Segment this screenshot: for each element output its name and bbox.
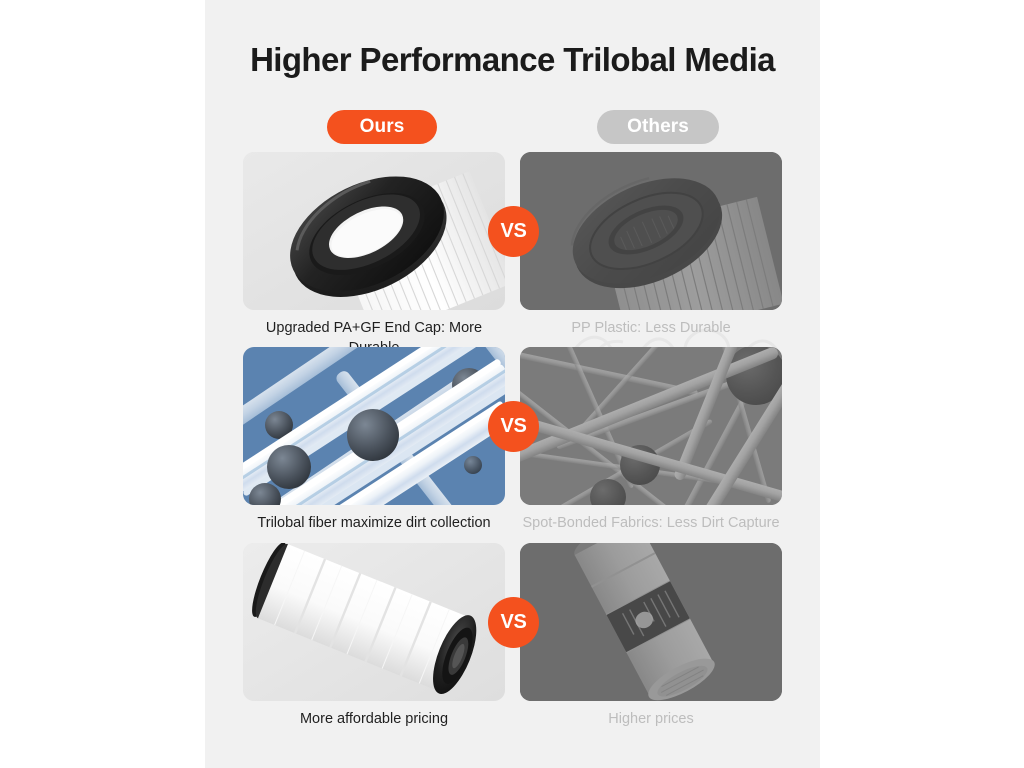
others-gray-veil	[520, 543, 782, 701]
ours-image-card-end-cap	[243, 152, 505, 310]
trilobal-fiber-microscope-render	[243, 347, 505, 505]
comparison-row-end-cap: VS	[205, 152, 820, 348]
ours-caption-fiber: Trilobal fiber maximize dirt collection	[243, 513, 505, 533]
others-caption-fiber: Spot-Bonded Fabrics: Less Dirt Capture	[520, 513, 782, 533]
others-image-card-end-cap	[520, 152, 782, 310]
comparison-row-fiber: VS	[205, 347, 820, 543]
infographic-page: Higher Performance Trilobal Media Ours O…	[0, 0, 1024, 768]
content-panel: Higher Performance Trilobal Media Ours O…	[205, 0, 820, 768]
vs-badge-price: VS	[488, 597, 539, 648]
white-cartridge-filter-photo	[243, 543, 505, 701]
comparison-row-price: VS	[205, 543, 820, 739]
others-caption-end-cap: PP Plastic: Less Durable	[520, 318, 782, 338]
black-end-cap-filter-photo	[243, 152, 505, 310]
column-header-row: Ours Others	[205, 110, 820, 146]
spot-bonded-round-fiber-render	[520, 347, 782, 505]
vs-badge-fiber: VS	[488, 401, 539, 452]
others-gray-veil	[520, 152, 782, 310]
others-image-card-fiber	[520, 347, 782, 505]
column-badge-ours: Ours	[327, 110, 437, 144]
page-title: Higher Performance Trilobal Media	[205, 40, 820, 80]
others-image-card-price	[520, 543, 782, 701]
ours-caption-price: More affordable pricing	[243, 709, 505, 729]
pp-plastic-end-cap-filter-photo	[520, 152, 782, 310]
ours-image-card-price	[243, 543, 505, 701]
ours-image-card-fiber	[243, 347, 505, 505]
vs-badge-end-cap: VS	[488, 206, 539, 257]
column-badge-others: Others	[597, 110, 719, 144]
competitor-cartridge-filter-photo	[520, 543, 782, 701]
others-caption-price: Higher prices	[520, 709, 782, 729]
others-gray-veil	[520, 347, 782, 505]
